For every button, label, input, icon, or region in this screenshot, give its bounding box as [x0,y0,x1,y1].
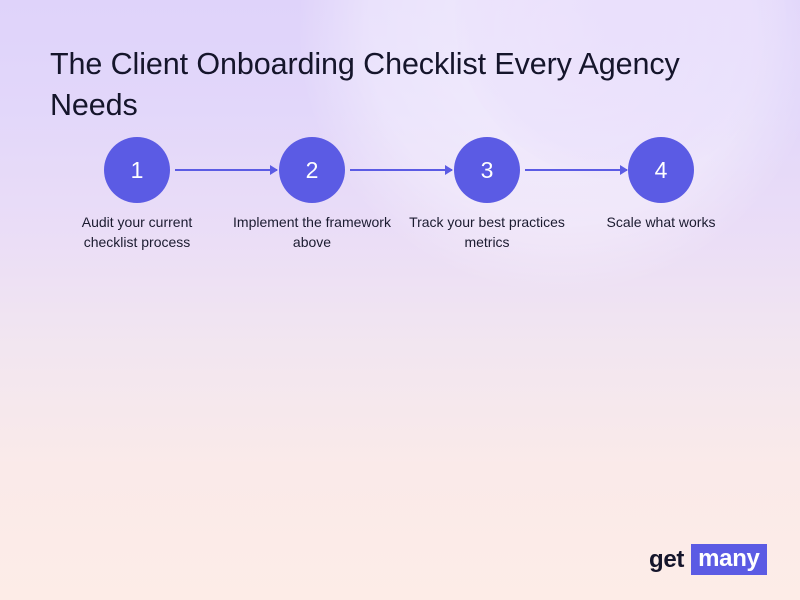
flow-step-1-label: Audit your current checklist process [57,212,217,252]
flow-step-2-number: 2 [279,137,345,203]
flow-step-3-label: Track your best practices metrics [407,212,567,252]
flow-step-1-number: 1 [104,137,170,203]
brand-logo-word-many: many [691,544,767,575]
brand-logo[interactable]: get many [649,544,767,575]
flow-step-4-label: Scale what works [581,212,741,232]
flow-step-3-number: 3 [454,137,520,203]
flow-connector-arrow-3-4 [525,169,627,171]
flow-step-2-label: Implement the framework above [232,212,392,252]
flow-connector-arrow-2-3 [350,169,452,171]
flow-step-4-number: 4 [628,137,694,203]
slide-canvas: The Client Onboarding Checklist Every Ag… [0,0,800,600]
process-flow-diagram: 1 Audit your current checklist process 2… [0,130,800,270]
page-title: The Client Onboarding Checklist Every Ag… [50,44,700,126]
flow-connector-arrow-1-2 [175,169,277,171]
brand-logo-word-get: get [649,545,684,575]
